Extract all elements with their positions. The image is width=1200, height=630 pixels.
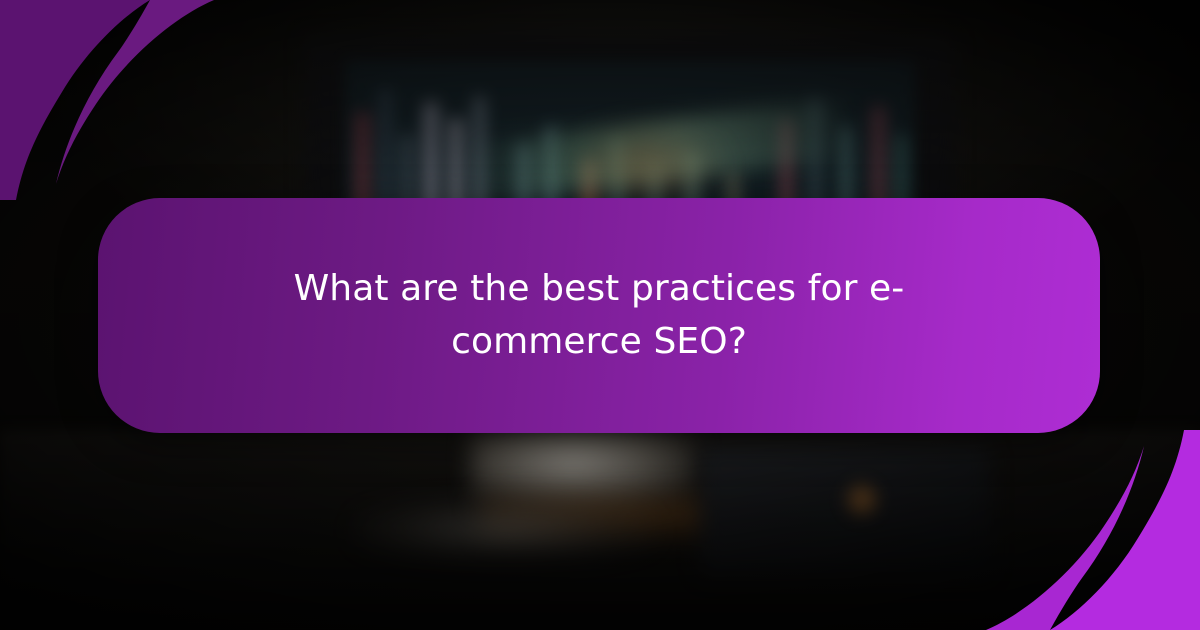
question-card-graphic: What are the best practices for e-commer… bbox=[0, 0, 1200, 630]
question-text: What are the best practices for e-commer… bbox=[144, 263, 1054, 368]
question-card: What are the best practices for e-commer… bbox=[98, 198, 1100, 433]
